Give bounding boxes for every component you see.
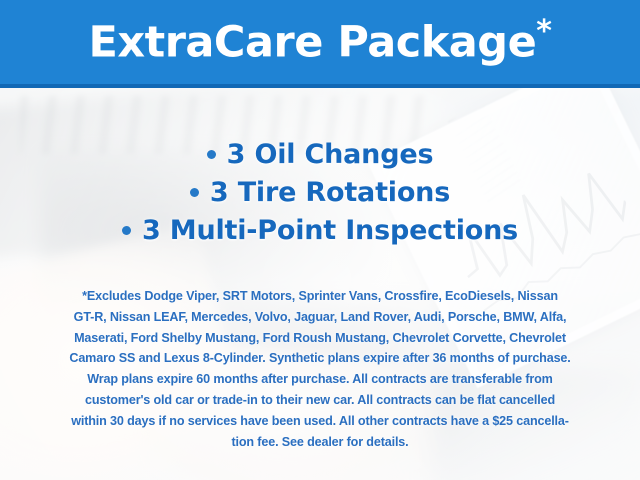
extracare-package-ad: ExtraCare Package* 3 Oil Changes 3 Tire …	[0, 0, 640, 480]
disclaimer-line: within 30 days if no services have been …	[22, 411, 618, 432]
list-item: 3 Oil Changes	[0, 136, 640, 174]
disclaimer-line: Wrap plans expire 60 months after purcha…	[22, 369, 618, 390]
disclaimer-line: tion fee. See dealer for details.	[22, 432, 618, 453]
disclaimer-line: Camaro SS and Lexus 8-Cylinder. Syntheti…	[22, 348, 618, 369]
benefit-label: 3 Oil Changes	[227, 139, 434, 170]
list-item: 3 Tire Rotations	[0, 174, 640, 212]
disclaimer-line: Maserati, Ford Shelby Mustang, Ford Rous…	[22, 328, 618, 349]
disclaimer-line: customer's old car or trade-in to their …	[22, 390, 618, 411]
disclaimer-text: *Excludes Dodge Viper, SRT Motors, Sprin…	[22, 286, 618, 452]
bullet-icon	[190, 188, 199, 197]
disclaimer-line: GT-R, Nissan LEAF, Mercedes, Volvo, Jagu…	[22, 307, 618, 328]
benefit-label: 3 Multi-Point Inspections	[142, 215, 518, 246]
disclaimer-line: *Excludes Dodge Viper, SRT Motors, Sprin…	[22, 286, 618, 307]
title-asterisk: *	[536, 14, 551, 49]
bullet-icon	[207, 150, 216, 159]
benefits-list: 3 Oil Changes 3 Tire Rotations 3 Multi-P…	[0, 136, 640, 250]
header-banner: ExtraCare Package*	[0, 0, 640, 88]
page-title-text: ExtraCare Package	[89, 18, 537, 68]
list-item: 3 Multi-Point Inspections	[0, 212, 640, 250]
page-title: ExtraCare Package*	[89, 17, 552, 64]
bullet-icon	[122, 226, 131, 235]
benefit-label: 3 Tire Rotations	[210, 177, 450, 208]
